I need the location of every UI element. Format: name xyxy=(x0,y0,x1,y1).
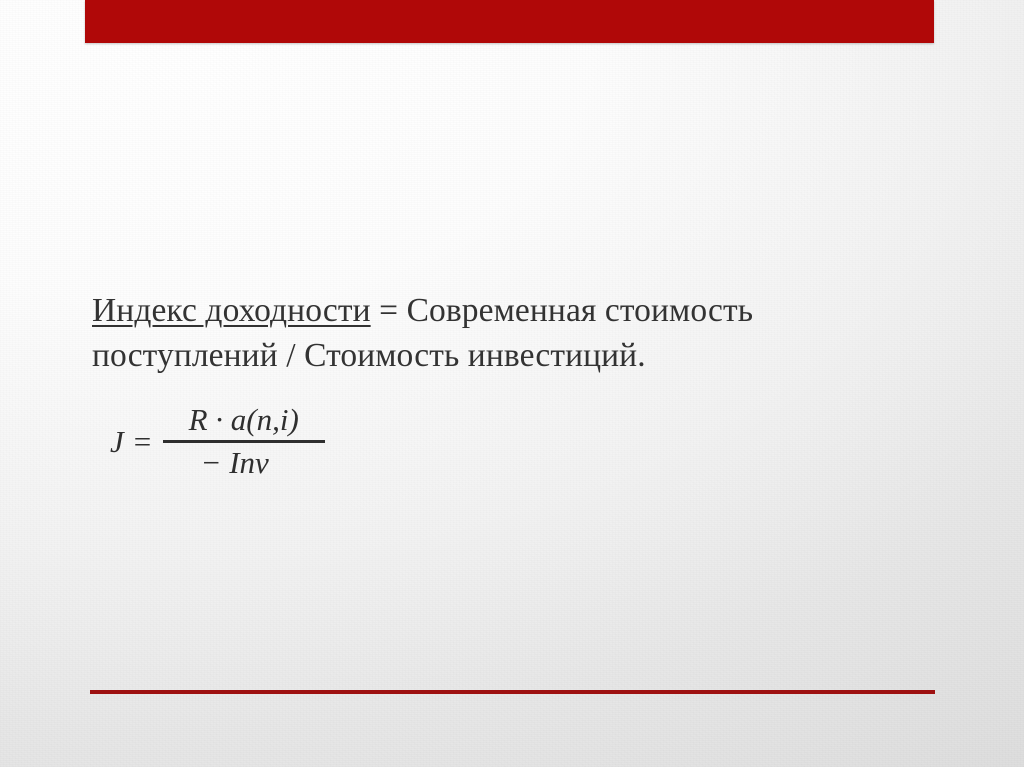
formula-fraction: R · a(n,i) − Inv xyxy=(163,404,325,479)
definition-text-block: Индекс доходности = Современная стоимост… xyxy=(92,288,922,378)
definition-term: Индекс доходности xyxy=(92,292,371,329)
formula-left-side: J xyxy=(110,424,130,460)
slide-canvas: Индекс доходности = Современная стоимост… xyxy=(0,0,1024,767)
definition-separator: = xyxy=(371,292,407,329)
top-red-banner xyxy=(85,0,934,43)
formula-denominator: − Inv xyxy=(195,443,293,480)
formula-numerator: R · a(n,i) xyxy=(183,404,305,440)
formula-equals-sign: = xyxy=(130,424,163,460)
profitability-index-formula: J = R · a(n,i) − Inv xyxy=(110,404,325,479)
bottom-red-rule xyxy=(90,690,935,694)
